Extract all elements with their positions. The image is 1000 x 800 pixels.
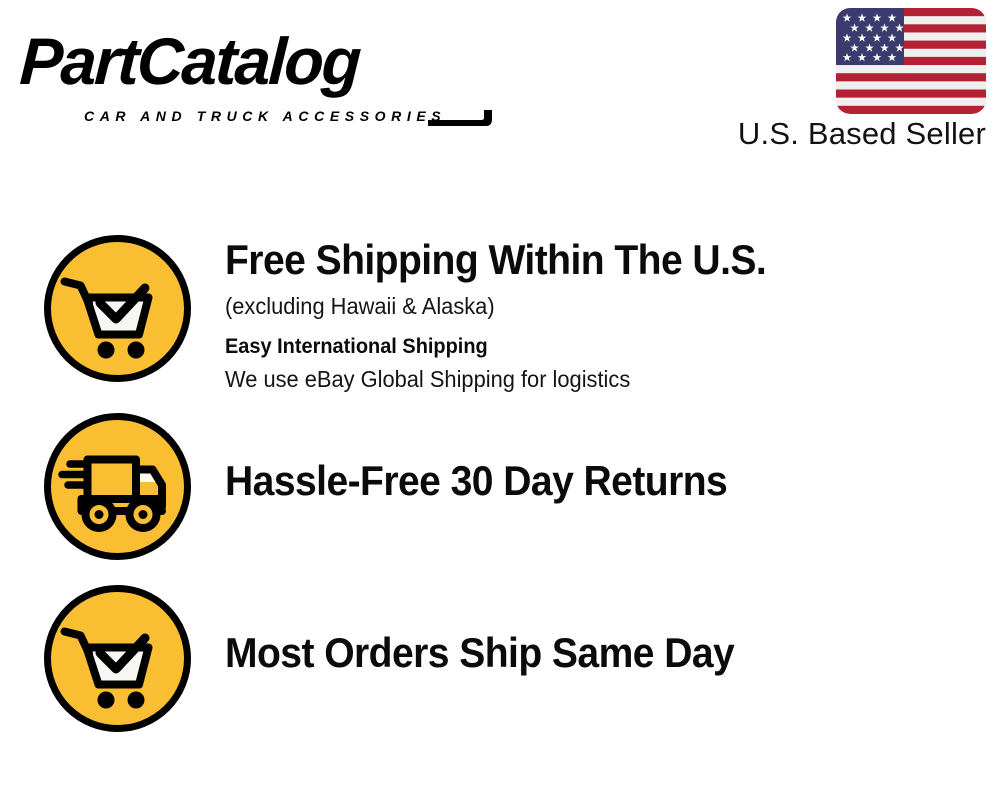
- feature-text-block: Hassle-Free 30 Day Returns: [225, 411, 765, 505]
- feature-heading: Hassle-Free 30 Day Returns: [225, 457, 727, 505]
- logo-swoosh-icon: [426, 110, 494, 128]
- brand-logo: PartCatalog CAR AND TRUCK ACCESSORIES: [22, 22, 492, 118]
- us-flag-icon: [836, 8, 986, 114]
- feature-row: Most Orders Ship Same Day: [0, 583, 1000, 734]
- feature-subtext: (excluding Hawaii & Alaska): [225, 290, 778, 322]
- brand-wordmark: PartCatalog: [18, 22, 361, 100]
- brand-tagline: CAR AND TRUCK ACCESSORIES: [84, 108, 446, 124]
- promo-banner: PartCatalog CAR AND TRUCK ACCESSORIES: [0, 0, 1000, 800]
- cart-check-icon: [42, 583, 193, 734]
- feature-subtext-light: We use eBay Global Shipping for logistic…: [225, 364, 778, 394]
- feature-text-block: Most Orders Ship Same Day: [225, 583, 773, 677]
- us-based-seller-label: U.S. Based Seller: [724, 116, 986, 152]
- cart-check-icon: [42, 233, 193, 384]
- feature-subtext-bold: Easy International Shipping: [225, 332, 778, 362]
- feature-heading: Free Shipping Within The U.S.: [225, 236, 766, 284]
- feature-row: Free Shipping Within The U.S. (excluding…: [0, 233, 1000, 394]
- feature-text-block: Free Shipping Within The U.S. (excluding…: [225, 233, 807, 394]
- delivery-truck-icon: [42, 411, 193, 562]
- feature-heading: Most Orders Ship Same Day: [225, 629, 734, 677]
- us-based-seller-badge: U.S. Based Seller: [724, 8, 986, 152]
- feature-row: Hassle-Free 30 Day Returns: [0, 411, 1000, 562]
